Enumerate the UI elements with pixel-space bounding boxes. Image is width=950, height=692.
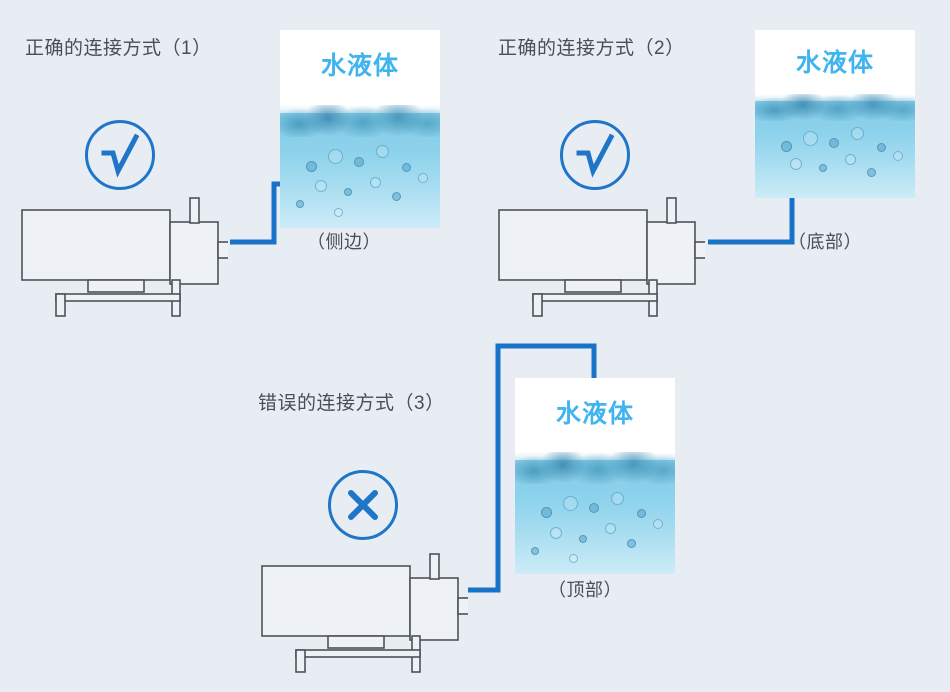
panel-2-title: 正确的连接方式（2） xyxy=(498,33,685,60)
panel-3-title: 错误的连接方式（3） xyxy=(258,388,445,415)
panel-1-caption: （侧边） xyxy=(307,228,381,254)
panel-correct-2: 正确的连接方式（2） xyxy=(480,0,950,300)
water-surface xyxy=(515,452,675,483)
water-tank-2: 水液体 xyxy=(755,30,915,198)
panel-2-caption: （底部） xyxy=(788,228,862,254)
tank-label-1: 水液体 xyxy=(280,46,440,82)
water-surface xyxy=(280,105,440,137)
pump-assembly-1 xyxy=(18,196,228,318)
panel-1-title: 正确的连接方式（1） xyxy=(25,33,212,60)
panel-correct-1: 正确的连接方式（1） xyxy=(0,0,470,300)
diagram-canvas: 正确的连接方式（1） xyxy=(0,0,950,692)
cross-circle-icon xyxy=(328,470,398,540)
tank-label-2: 水液体 xyxy=(755,43,915,79)
water-tank-1: 水液体 xyxy=(280,30,440,228)
panel-3-caption: （顶部） xyxy=(548,576,622,602)
check-circle-icon xyxy=(560,120,630,190)
pump-assembly-3 xyxy=(258,552,468,674)
pump-assembly-2 xyxy=(495,196,705,318)
check-circle-icon xyxy=(85,120,155,190)
panel-wrong-3: 错误的连接方式（3） xyxy=(240,340,710,692)
tank-label-3: 水液体 xyxy=(515,394,675,430)
water-tank-3: 水液体 xyxy=(515,378,675,574)
water-surface xyxy=(755,94,915,121)
